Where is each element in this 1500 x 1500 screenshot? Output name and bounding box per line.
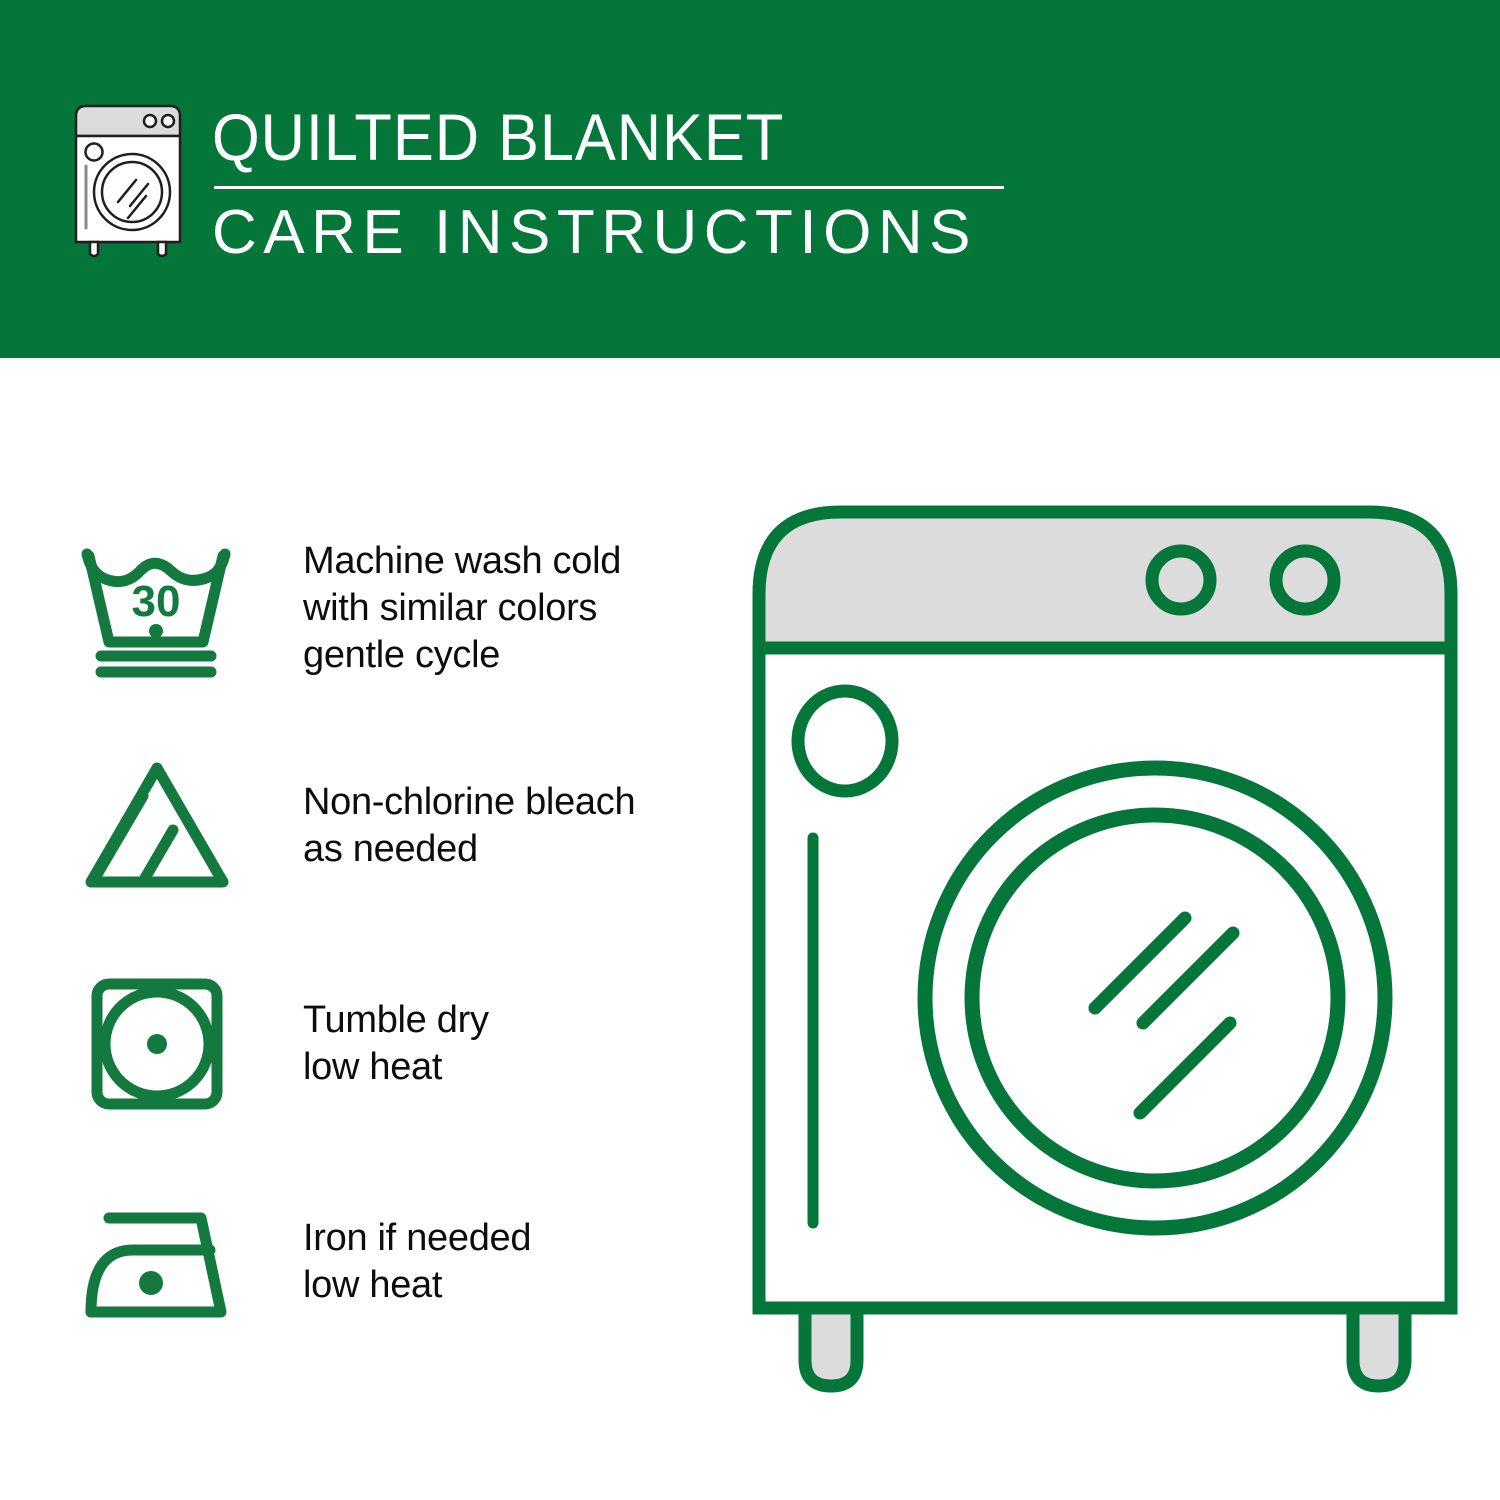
title-divider: [214, 186, 1004, 189]
care-row-tumble-dry: Tumble dry low heat: [70, 944, 720, 1144]
page-subtitle: CARE INSTRUCTIONS: [212, 199, 1004, 267]
svg-text:30: 30: [131, 577, 180, 626]
main-content: 30 Machine wash cold with similar colors…: [0, 358, 1500, 1500]
iron-low-heat-icon: [70, 1187, 245, 1337]
care-row-bleach: Non-chlorine bleach as needed: [70, 726, 720, 926]
tumble-dry-low-icon: [70, 969, 245, 1119]
care-row-machine-wash: 30 Machine wash cold with similar colors…: [70, 508, 720, 708]
washing-machine-logo-icon: [62, 102, 194, 262]
wash-tub-30-icon: 30: [70, 533, 245, 683]
page-title: QUILTED BLANKET: [212, 100, 949, 174]
care-instruction-list: 30 Machine wash cold with similar colors…: [70, 508, 720, 1362]
washing-machine-illustration: [745, 498, 1465, 1398]
care-instructions-page: QUILTED BLANKET CARE INSTRUCTIONS: [0, 0, 1500, 1500]
header-content: QUILTED BLANKET CARE INSTRUCTIONS: [62, 98, 1004, 267]
header-title-block: QUILTED BLANKET CARE INSTRUCTIONS: [212, 98, 1004, 267]
care-label-bleach: Non-chlorine bleach as needed: [303, 779, 635, 873]
header-banner: QUILTED BLANKET CARE INSTRUCTIONS: [0, 0, 1500, 358]
care-label-iron: Iron if needed low heat: [303, 1215, 531, 1309]
care-row-iron: Iron if needed low heat: [70, 1162, 720, 1362]
care-label-tumble-dry: Tumble dry low heat: [303, 997, 489, 1091]
care-label-machine-wash: Machine wash cold with similar colors ge…: [303, 538, 621, 679]
non-chlorine-bleach-triangle-icon: [70, 751, 245, 901]
